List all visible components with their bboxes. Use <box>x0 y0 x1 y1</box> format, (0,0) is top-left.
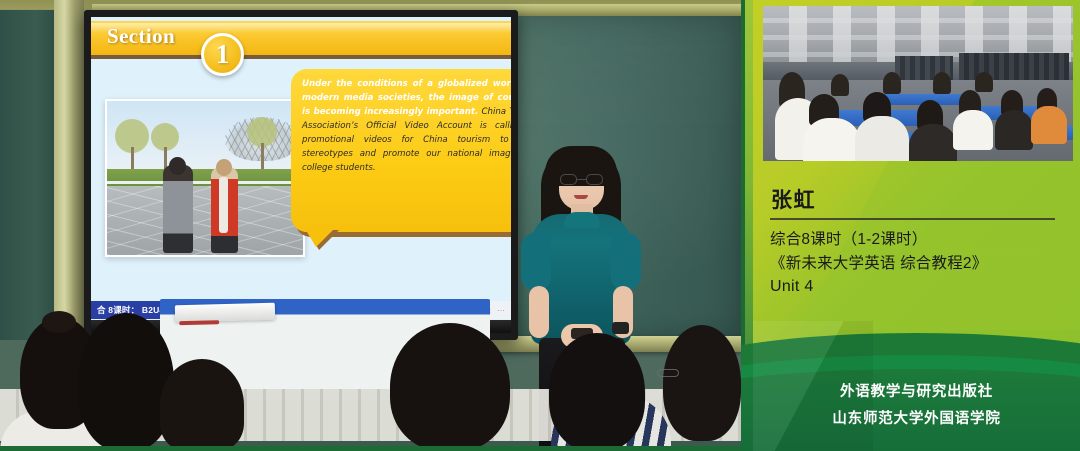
student-head <box>549 333 645 451</box>
lesson-detail-line-2: 《新未来大学英语 综合教程2》 <box>770 252 1070 276</box>
presentation-slide: Section 1 Unit Project Overview <box>91 17 511 333</box>
publisher-name: 外语教学与研究出版社 <box>753 379 1080 406</box>
speech-bubble-tail <box>304 227 336 247</box>
info-panel: 张虹 综合8课时（1-2课时） 《新未来大学英语 综合教程2》 Unit 4 外… <box>741 0 1080 451</box>
presenter-name: 张虹 <box>771 184 816 214</box>
photo-person-gray-head <box>169 157 186 175</box>
photo-student <box>909 124 957 161</box>
screenshot-root: Section 1 Unit Project Overview <box>0 0 1080 451</box>
wall-pillar <box>54 0 84 350</box>
lesson-detail-line-1: 综合8课时（1-2课时） <box>770 228 1070 252</box>
photo-pavement <box>107 186 303 255</box>
name-divider <box>770 218 1055 220</box>
open-book <box>175 303 275 323</box>
photo-student <box>883 72 901 94</box>
slide-photo-two-women <box>105 99 305 257</box>
organization-footer: 外语教学与研究出版社 山东师范大学外国语学院 <box>753 379 1080 433</box>
left-chalkboard <box>0 10 60 340</box>
photo-person-gray-coat <box>163 165 193 253</box>
section-label: Section <box>107 24 175 49</box>
presenter-collar <box>564 212 600 228</box>
photo-tree-trunk <box>261 143 264 171</box>
photo-student <box>933 72 951 94</box>
slide-speech-bubble: Under the conditions of a globalized wor… <box>291 69 511 232</box>
presenter-sleeve-left <box>521 232 551 290</box>
video-bottom-edge <box>0 446 741 451</box>
student-head <box>160 359 244 451</box>
classroom-video-pane: Section 1 Unit Project Overview <box>0 0 741 451</box>
student-head <box>390 323 510 451</box>
photo-person-red-head <box>216 159 232 176</box>
photo-student <box>975 72 993 92</box>
lesson-detail-line-3: Unit 4 <box>770 275 1070 299</box>
student-glasses <box>657 369 679 377</box>
student-head <box>663 325 741 441</box>
photo-student <box>953 110 993 150</box>
presenter-sleeve-right <box>611 232 641 290</box>
presenter-mouth <box>574 195 588 199</box>
lesson-detail-lines: 综合8课时（1-2课时） 《新未来大学英语 综合教程2》 Unit 4 <box>770 228 1070 299</box>
photo-student <box>1031 106 1067 144</box>
photo-student <box>855 116 909 161</box>
photo-student <box>995 110 1033 150</box>
photo-railing <box>107 181 303 184</box>
audience-photo <box>763 6 1073 161</box>
smart-board-display: Section 1 Unit Project Overview <box>84 10 518 340</box>
university-name: 山东师范大学外国语学院 <box>753 406 1080 433</box>
presenter-glasses <box>559 174 604 185</box>
photo-student <box>831 74 849 96</box>
photo-student <box>803 118 861 161</box>
section-number-badge: 1 <box>201 33 244 76</box>
foreground-students <box>0 301 741 451</box>
student-head <box>78 313 174 451</box>
photo-scarf <box>219 177 228 233</box>
